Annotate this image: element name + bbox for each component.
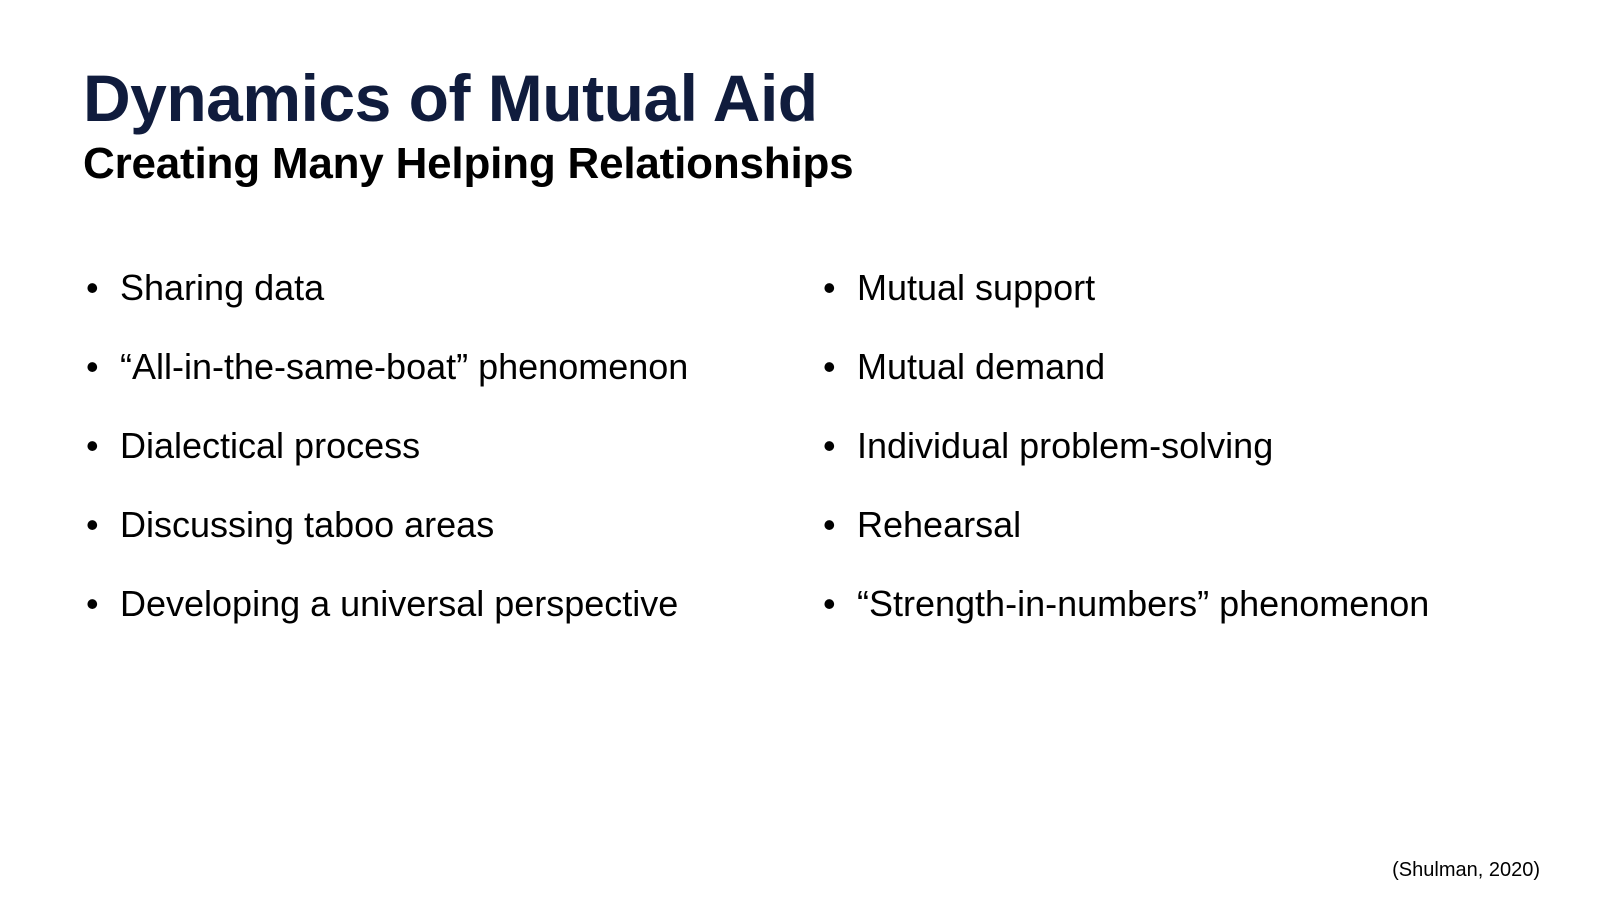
bullet-dot-icon: • [86,268,106,308]
slide-header: Dynamics of Mutual Aid Creating Many Hel… [83,62,1523,188]
list-item-label: Mutual support [857,268,1520,308]
list-item: • Mutual demand [820,347,1520,387]
list-item-label: Mutual demand [857,347,1520,387]
list-item-label: “All-in-the-same-boat” phenomenon [120,347,783,387]
bullet-dot-icon: • [823,268,843,308]
bullet-dot-icon: • [823,426,843,466]
list-item: • Individual problem-solving [820,426,1520,466]
bullet-dot-icon: • [823,505,843,545]
list-item: • Dialectical process [83,426,783,466]
bullet-dot-icon: • [86,347,106,387]
list-item-label: “Strength-in-numbers” phenomenon [857,584,1520,624]
list-item-label: Discussing taboo areas [120,505,783,545]
bullet-dot-icon: • [86,505,106,545]
list-item-label: Individual problem-solving [857,426,1520,466]
bullet-dot-icon: • [823,347,843,387]
list-item: • Discussing taboo areas [83,505,783,545]
slide-canvas: Dynamics of Mutual Aid Creating Many Hel… [0,0,1600,900]
list-item-label: Dialectical process [120,426,783,466]
bullet-dot-icon: • [823,584,843,624]
list-item: • Mutual support [820,268,1520,308]
list-item-label: Sharing data [120,268,783,308]
list-item: • “All-in-the-same-boat” phenomenon [83,347,783,387]
list-item: • Rehearsal [820,505,1520,545]
list-item: • Developing a universal perspective [83,584,783,624]
page-subtitle: Creating Many Helping Relationships [83,134,1523,188]
bullet-dot-icon: • [86,584,106,624]
list-item-label: Rehearsal [857,505,1520,545]
bullet-dot-icon: • [86,426,106,466]
left-bullet-list: • Sharing data • “All-in-the-same-boat” … [83,268,783,624]
page-title: Dynamics of Mutual Aid [83,62,1523,134]
list-item: • “Strength-in-numbers” phenomenon [820,584,1520,624]
source-citation: (Shulman, 2020) [1392,858,1540,882]
right-bullet-column: • Mutual support • Mutual demand • Indiv… [820,268,1520,624]
left-bullet-column: • Sharing data • “All-in-the-same-boat” … [83,268,783,624]
list-item: • Sharing data [83,268,783,308]
right-bullet-list: • Mutual support • Mutual demand • Indiv… [820,268,1520,624]
list-item-label: Developing a universal perspective [120,584,783,624]
